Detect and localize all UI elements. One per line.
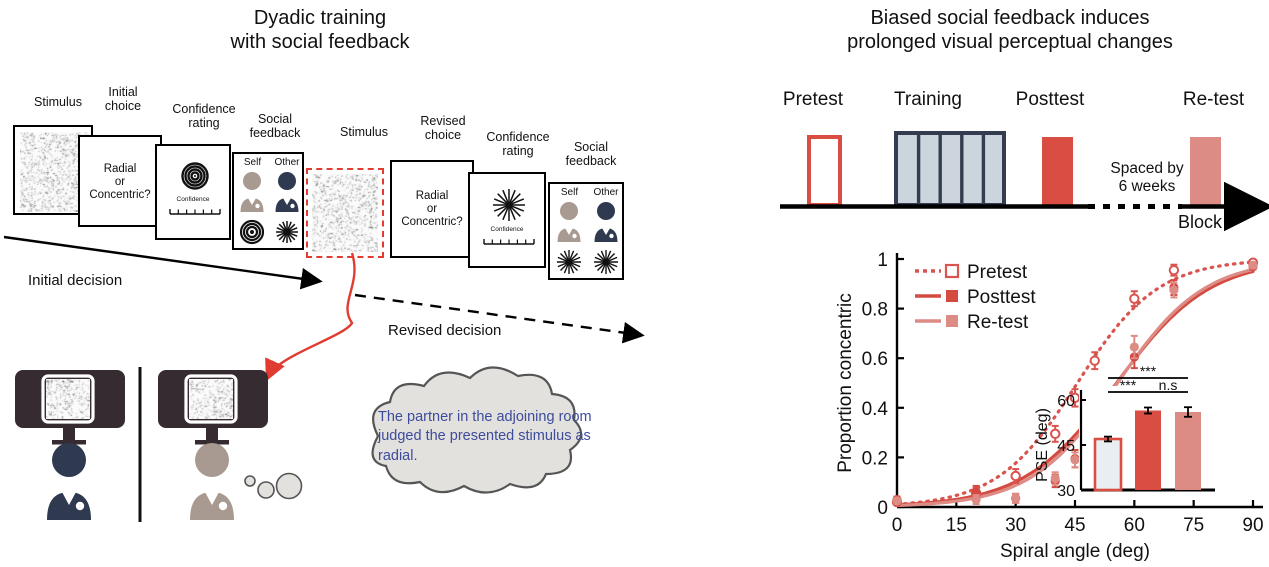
concentric-icon <box>183 164 208 189</box>
x-tick-label: 75 <box>1183 515 1204 536</box>
inset-y-tick-label: 45 <box>1057 438 1075 455</box>
x-tick-label: 15 <box>946 515 967 536</box>
legend-marker-posttest <box>946 290 958 302</box>
data-point-re-test[interactable] <box>1248 261 1257 270</box>
inset-y-tick-label: 60 <box>1057 393 1075 410</box>
psychometric-chart: 00.20.40.60.810153045607590Spiral angle … <box>835 245 1265 567</box>
data-point-re-test[interactable] <box>1169 285 1178 294</box>
thought-trail-bubbles <box>245 474 302 499</box>
legend-marker-pretest <box>946 265 958 277</box>
initial-decision-label: Initial decision <box>28 272 122 289</box>
self-person-icon-1 <box>241 172 264 212</box>
radial-icon <box>493 189 525 221</box>
legend-label-re-test: Re-test <box>967 312 1029 333</box>
legend-label-pretest: Pretest <box>967 262 1028 283</box>
timeline-label-pretest: Pretest <box>768 89 858 111</box>
y-tick-label: 1 <box>877 250 888 271</box>
timeline-label-training: Training <box>868 89 988 111</box>
initial-choice-text: Radial or Concentric? <box>80 163 160 202</box>
revised-decision-label: Revised decision <box>388 322 501 339</box>
data-point-re-test[interactable] <box>1051 474 1060 483</box>
data-point-re-test[interactable] <box>972 495 981 504</box>
card-label-initial-choice: Initial choice <box>84 85 162 113</box>
trial-card-initial-choice[interactable]: Radial or Concentric? <box>78 135 162 227</box>
x-axis-label: Spiral angle (deg) <box>1000 541 1150 562</box>
red-pointer-arrow <box>268 253 355 377</box>
other-person-icon-1 <box>276 172 299 212</box>
data-point-re-test[interactable] <box>892 496 901 505</box>
inset-bar-re-test[interactable] <box>1175 412 1201 490</box>
y-tick-label: 0.4 <box>862 399 889 420</box>
noise-monitor-b <box>189 379 233 419</box>
legend-label-posttest: Posttest <box>967 287 1036 308</box>
x-tick-label: 60 <box>1124 515 1145 536</box>
data-point-pretest[interactable] <box>1170 266 1178 274</box>
data-point-re-test[interactable] <box>1130 342 1139 351</box>
card-label-social-feedback-2: Social feedback <box>550 140 632 168</box>
inset-bar-posttest[interactable] <box>1135 411 1161 491</box>
sig-label-1: n.s <box>1159 377 1178 393</box>
y-tick-label: 0.8 <box>862 300 888 321</box>
y-tick-label: 0 <box>877 498 888 519</box>
x-tick-label: 30 <box>1005 515 1026 536</box>
sig-label-2: *** <box>1140 363 1157 379</box>
thought-bubble-text: The partner in the adjoining room judged… <box>378 408 594 466</box>
timeline-block-posttest[interactable] <box>1042 137 1073 205</box>
y-tick-label: 0.6 <box>862 349 888 370</box>
x-tick-label: 45 <box>1064 515 1085 536</box>
data-point-pretest[interactable] <box>1130 294 1138 302</box>
timeline-block-pretest[interactable] <box>809 137 840 205</box>
x-tick-label: 90 <box>1242 515 1263 536</box>
data-point-pretest[interactable] <box>1091 356 1099 364</box>
sig-label-0: *** <box>1120 377 1137 393</box>
data-point-pretest[interactable] <box>1011 472 1019 480</box>
timeline-block-training[interactable] <box>896 133 1004 205</box>
right-panel-title: Biased social feedback induces prolonged… <box>770 6 1250 55</box>
timeline-label-posttest: Posttest <box>1000 89 1100 111</box>
confidence-scale-1[interactable] <box>170 209 220 214</box>
revised-choice-text: Radial or Concentric? <box>392 190 472 229</box>
timeline-axis-label: Block <box>1178 212 1222 233</box>
left-panel-title: Dyadic training with social feedback <box>110 6 530 55</box>
legend-marker-re-test <box>946 315 958 327</box>
inset-y-axis-label: PSE (deg) <box>1034 408 1051 482</box>
inset-y-tick-label: 30 <box>1057 483 1075 500</box>
data-point-pretest[interactable] <box>1051 430 1059 438</box>
inset-bar-pretest[interactable] <box>1095 439 1121 490</box>
timeline-label-retest: Re-test <box>1166 89 1261 111</box>
data-point-re-test[interactable] <box>1070 455 1079 464</box>
y-axis-label: Proportion concentric <box>835 293 856 473</box>
chart-canvas: 00.20.40.60.810153045607590Spiral angle … <box>835 245 1265 567</box>
confidence-label-1: Confidence <box>157 196 229 203</box>
y-tick-label: 0.2 <box>862 448 888 469</box>
card-label-stimulus-2: Stimulus <box>320 125 408 139</box>
data-point-re-test[interactable] <box>1011 494 1020 503</box>
noise-monitor-a <box>46 379 90 419</box>
timeline-spacer-note: Spaced by 6 weeks <box>1092 160 1202 197</box>
card-label-social-feedback-1: Social feedback <box>234 112 316 140</box>
x-tick-label: 0 <box>892 515 903 536</box>
